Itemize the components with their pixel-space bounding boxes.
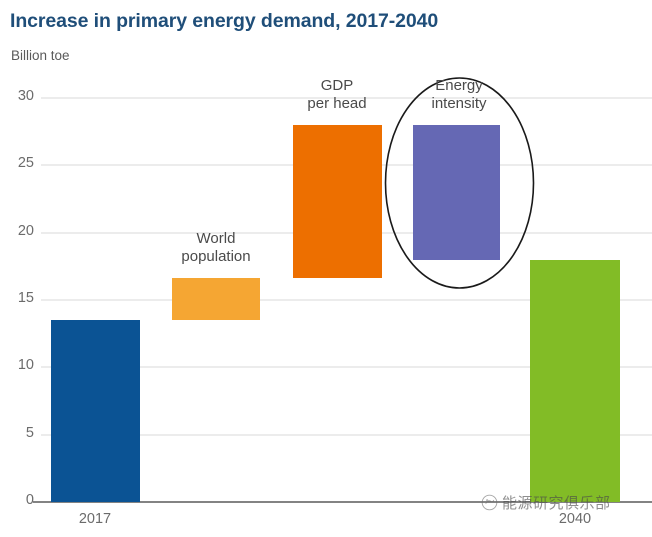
ytick-label-10: 10 (0, 357, 34, 373)
bar-label-energy-intensity-line2: intensity (431, 95, 486, 113)
bar-energy-intensity (413, 125, 500, 260)
bar-label-world-population: World population (181, 230, 250, 265)
bar-label-gdp-per-head: GDP per head (307, 77, 366, 112)
xtick-label-2017: 2017 (79, 511, 111, 527)
xtick-label-2040: 2040 (559, 511, 591, 527)
bar-label-world-population-line1: World (181, 230, 250, 248)
chart-container: Increase in primary energy demand, 2017-… (0, 0, 652, 537)
bar-label-gdp-per-head-line1: GDP (307, 77, 366, 95)
ytick-label-30: 30 (0, 88, 34, 104)
ytick-label-20: 20 (0, 223, 34, 239)
bar-world-population (172, 278, 260, 320)
bar-label-energy-intensity-line1: Energy (431, 77, 486, 95)
bar-series (51, 125, 620, 502)
ytick-label-25: 25 (0, 155, 34, 171)
ytick-label-5: 5 (0, 425, 34, 441)
bar-2017 (51, 320, 140, 502)
bar-label-gdp-per-head-line2: per head (307, 95, 366, 113)
bar-2040 (530, 260, 620, 502)
ytick-label-0: 0 (0, 492, 34, 508)
bar-label-world-population-line2: population (181, 248, 250, 266)
bar-label-energy-intensity: Energy intensity (431, 77, 486, 112)
bar-gdp-per-head (293, 125, 382, 278)
ytick-label-15: 15 (0, 290, 34, 306)
